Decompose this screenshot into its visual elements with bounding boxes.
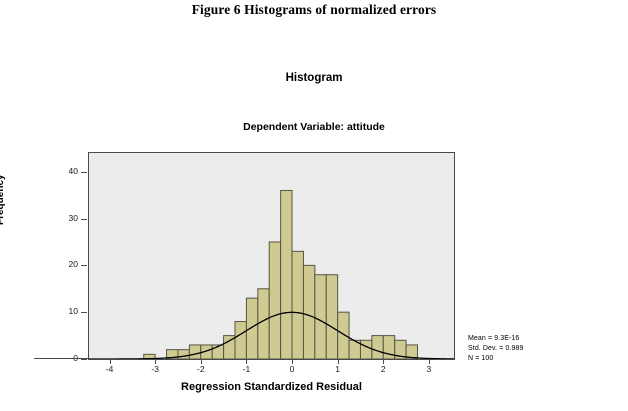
x-tick-mark: [246, 359, 247, 364]
x-axis-title: Regression Standardized Residual: [88, 381, 455, 393]
histogram-bar: [189, 345, 200, 359]
y-tick-mark: [81, 219, 87, 220]
x-tick-mark: [110, 359, 111, 364]
x-tick-label: -2: [186, 364, 216, 374]
y-tick-label: 10: [44, 306, 78, 316]
histogram-bar: [326, 275, 337, 359]
x-tick-mark: [429, 359, 430, 364]
sample-size-value: N = 100: [468, 354, 523, 364]
histogram-bar: [303, 265, 314, 359]
x-tick-label: 0: [277, 364, 307, 374]
y-tick-label: 20: [44, 259, 78, 269]
histogram-bar: [292, 251, 303, 359]
histogram-canvas: [89, 153, 454, 359]
y-tick-mark: [81, 359, 87, 360]
histogram-bar: [281, 190, 292, 359]
figure-caption: Figure 6 Histograms of normalized errors: [0, 2, 628, 18]
statistics-annotation: Mean = 9.3E-16 Std. Dev. = 0.989 N = 100: [468, 334, 523, 364]
x-tick-label: -4: [95, 364, 125, 374]
y-tick-mark: [81, 312, 87, 313]
x-tick-label: 2: [368, 364, 398, 374]
y-tick-label: 30: [44, 213, 78, 223]
histogram-plot-area: [88, 152, 455, 360]
y-tick-label: 40: [44, 166, 78, 176]
histogram-bars: [144, 190, 418, 359]
y-tick-mark: [81, 265, 87, 266]
x-tick-label: -1: [231, 364, 261, 374]
x-tick-label: 3: [414, 364, 444, 374]
x-tick-mark: [292, 359, 293, 364]
x-axis-baseline-stub: [34, 358, 88, 359]
histogram-bar: [360, 340, 371, 359]
std-dev-value: Std. Dev. = 0.989: [468, 344, 523, 354]
histogram-bar: [258, 289, 269, 359]
histogram-bar: [372, 336, 383, 359]
histogram-bar: [315, 275, 326, 359]
chart-title: Histogram: [0, 72, 628, 84]
histogram-bar: [338, 312, 349, 359]
x-tick-label: 1: [323, 364, 353, 374]
x-tick-label: -3: [140, 364, 170, 374]
y-axis-title: Frequency: [0, 174, 6, 225]
histogram-bar: [246, 298, 257, 359]
histogram-bar: [235, 322, 246, 359]
x-tick-mark: [201, 359, 202, 364]
x-tick-mark: [383, 359, 384, 364]
histogram-bar: [269, 242, 280, 359]
x-tick-mark: [338, 359, 339, 364]
histogram-bar: [178, 350, 189, 359]
chart-subtitle: Dependent Variable: attitude: [0, 121, 628, 133]
mean-value: Mean = 9.3E-16: [468, 334, 523, 344]
x-tick-mark: [155, 359, 156, 364]
y-tick-mark: [81, 172, 87, 173]
